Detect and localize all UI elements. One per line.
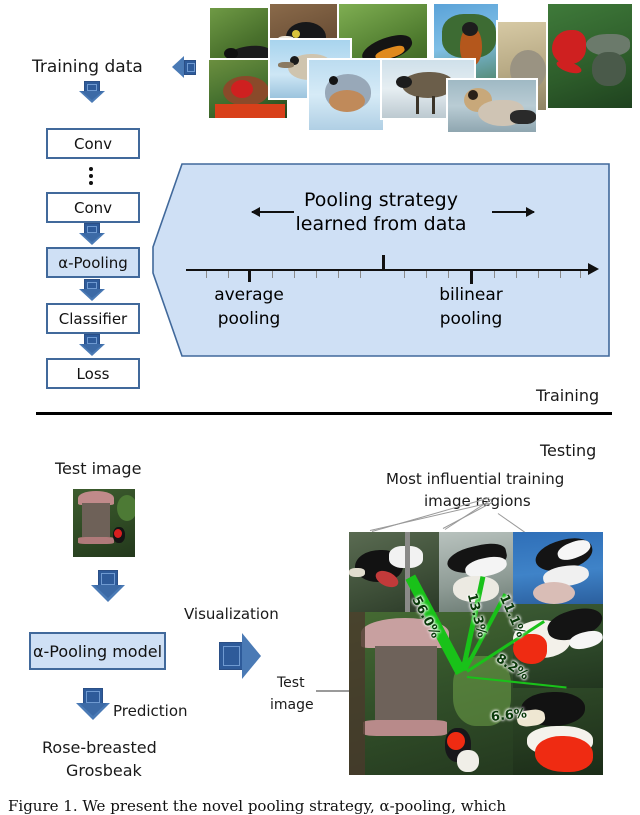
visualization-arrow-icon bbox=[219, 633, 261, 679]
test-image-caption-line1: Test bbox=[277, 675, 305, 691]
training-data-label: Training data bbox=[32, 57, 143, 77]
pipeline-box-classifier[interactable]: Classifier bbox=[46, 303, 140, 334]
collage-photo bbox=[546, 2, 634, 110]
training-data-arrow-icon bbox=[172, 56, 196, 78]
regions-label-line1: Most influential training bbox=[386, 470, 564, 488]
test-image-label: Test image bbox=[55, 459, 141, 478]
pipeline-box-conv-1[interactable]: Conv bbox=[46, 128, 140, 159]
pipeline-box-label: Conv bbox=[74, 135, 112, 153]
pipeline-box-label: α-Pooling bbox=[58, 254, 128, 272]
pipeline-box-label: Conv bbox=[74, 199, 112, 217]
pipeline-arrow-icon bbox=[79, 279, 105, 301]
callout-arrow-right-icon bbox=[492, 211, 534, 213]
pipeline-box-label: Classifier bbox=[59, 310, 127, 328]
influence-visualization: 56.0% 13.3% 11.1% 8.2% 6.6% bbox=[349, 532, 603, 775]
section-divider bbox=[36, 412, 612, 415]
alpha-pooling-model-box[interactable]: α-Pooling model bbox=[29, 632, 166, 670]
pipeline-box-alpha-pooling[interactable]: α-Pooling bbox=[46, 247, 140, 278]
phase-label-testing: Testing bbox=[540, 441, 596, 460]
prediction-value-line1: Rose-breasted bbox=[42, 738, 157, 757]
pooling-strategy-callout: Pooling strategy learned from data avera… bbox=[152, 163, 610, 357]
testing-arrow-icon bbox=[91, 570, 125, 602]
influence-patch bbox=[513, 688, 603, 775]
axis-label-bilinear-line1: bilinear bbox=[416, 285, 526, 305]
axis-label-average-line2: pooling bbox=[194, 309, 304, 329]
callout-title-line2: learned from data bbox=[152, 213, 610, 235]
visualization-label: Visualization bbox=[184, 605, 279, 623]
pipeline-arrow-icon bbox=[79, 223, 105, 245]
alpha-pooling-model-label: α-Pooling model bbox=[33, 642, 162, 661]
pipeline-box-loss[interactable]: Loss bbox=[46, 358, 140, 389]
callout-arrow-left-icon bbox=[252, 211, 294, 213]
prediction-arrow-icon bbox=[76, 688, 110, 720]
callout-title-line1: Pooling strategy bbox=[152, 189, 610, 211]
test-image-thumbnail bbox=[71, 487, 137, 559]
prediction-label: Prediction bbox=[113, 702, 188, 720]
pipeline-box-label: Loss bbox=[77, 365, 110, 383]
collage-photo bbox=[446, 78, 538, 134]
figure-caption: Figure 1. We present the novel pooling s… bbox=[8, 797, 632, 815]
test-image-caption-line2: image bbox=[270, 697, 314, 713]
pipeline-arrow-icon bbox=[79, 334, 105, 356]
prediction-value-line2: Grosbeak bbox=[66, 761, 142, 780]
axis-label-average-line1: average bbox=[194, 285, 304, 305]
axis-label-bilinear-line2: pooling bbox=[416, 309, 526, 329]
collage-photo bbox=[307, 58, 385, 132]
pipeline-box-conv-2[interactable]: Conv bbox=[46, 192, 140, 223]
influence-patch bbox=[513, 532, 603, 604]
test-image-pointer-line bbox=[316, 690, 350, 692]
pipeline-ellipsis-icon bbox=[89, 167, 93, 185]
pipeline-arrow-icon bbox=[79, 81, 105, 103]
phase-label-training: Training bbox=[536, 386, 599, 405]
